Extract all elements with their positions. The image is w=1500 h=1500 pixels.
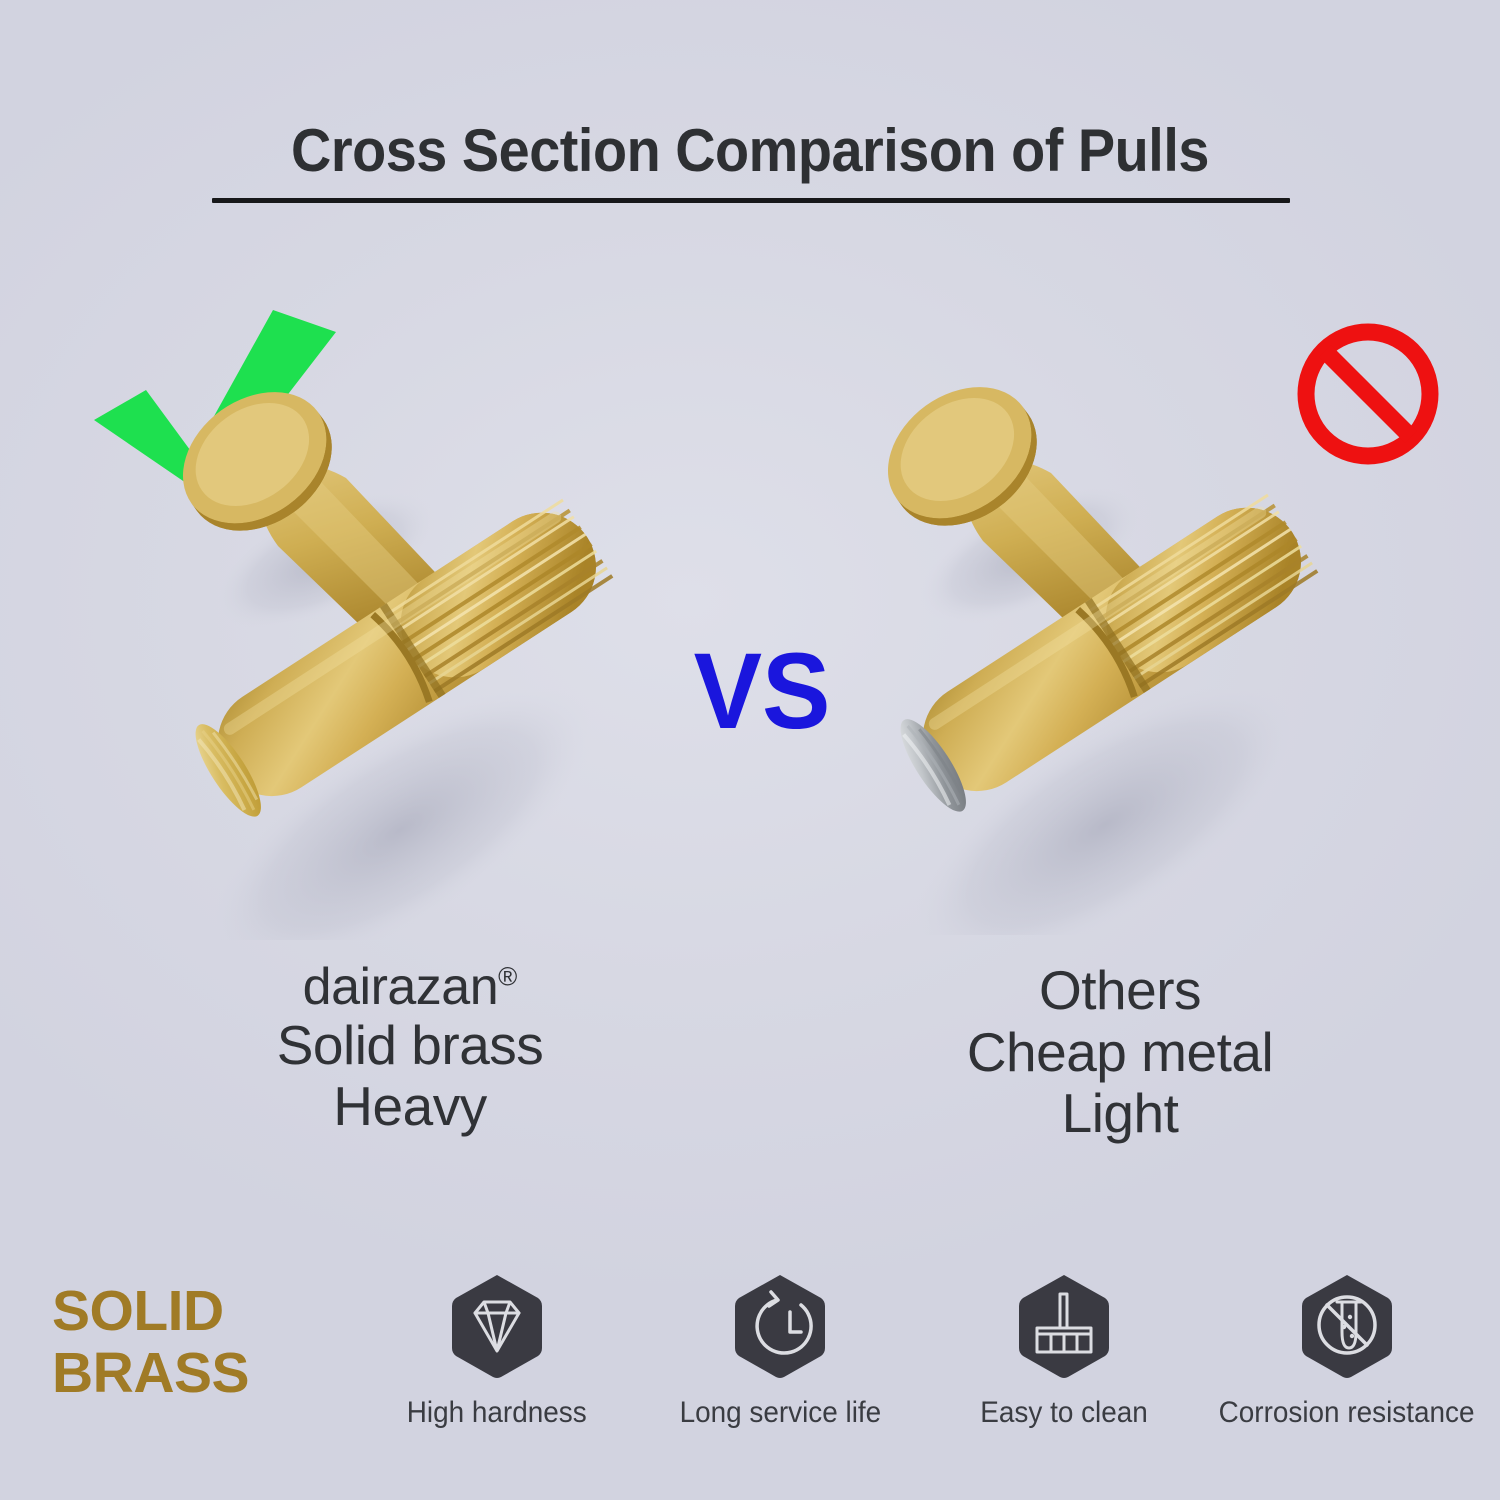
title-underline [212,198,1290,203]
page-title: Cross Section Comparison of Pulls [0,116,1500,185]
clock-refresh-icon [731,1272,829,1382]
caption-dairazan: dairazan® Solid brass Heavy [150,960,670,1138]
product-image-dairazan-pull [150,360,670,940]
solid-brass-line-2: BRASS [52,1343,352,1405]
brand-name: dairazan [303,958,498,1016]
right-material: Cheap metal [860,1022,1380,1084]
registered-trademark-icon: ® [498,962,517,992]
feature-high-hardness: High hardness [372,1272,622,1430]
vs-label: VS [694,637,831,745]
feature-long-service-life: Long service life [655,1272,905,1430]
feature-easy-to-clean: Easy to clean [939,1272,1189,1430]
feature-label: Easy to clean [980,1396,1148,1430]
infographic-canvas: Cross Section Comparison of Pulls [0,0,1500,1500]
left-material: Solid brass [150,1015,670,1077]
solid-brass-line-1: SOLID [52,1281,352,1343]
feature-row: High hardness Long service life [372,1272,1472,1472]
feature-label: High hardness [407,1396,587,1430]
feature-corrosion-resistance: Corrosion resistance [1222,1272,1472,1430]
page-title-text: Cross Section Comparison of Pulls [53,116,1448,185]
left-weight: Heavy [150,1076,670,1138]
caption-others: Others Cheap metal Light [860,960,1380,1145]
no-corrosion-icon [1298,1272,1396,1382]
feature-label: Corrosion resistance [1219,1396,1475,1430]
right-weight: Light [860,1083,1380,1145]
brand-name-row: dairazan® [150,960,670,1015]
product-image-others-pull [855,355,1375,935]
broom-icon [1015,1272,1113,1382]
diamond-icon [448,1272,546,1382]
solid-brass-badge: SOLID BRASS [52,1281,352,1404]
feature-label: Long service life [680,1396,882,1430]
right-brand: Others [860,960,1380,1022]
